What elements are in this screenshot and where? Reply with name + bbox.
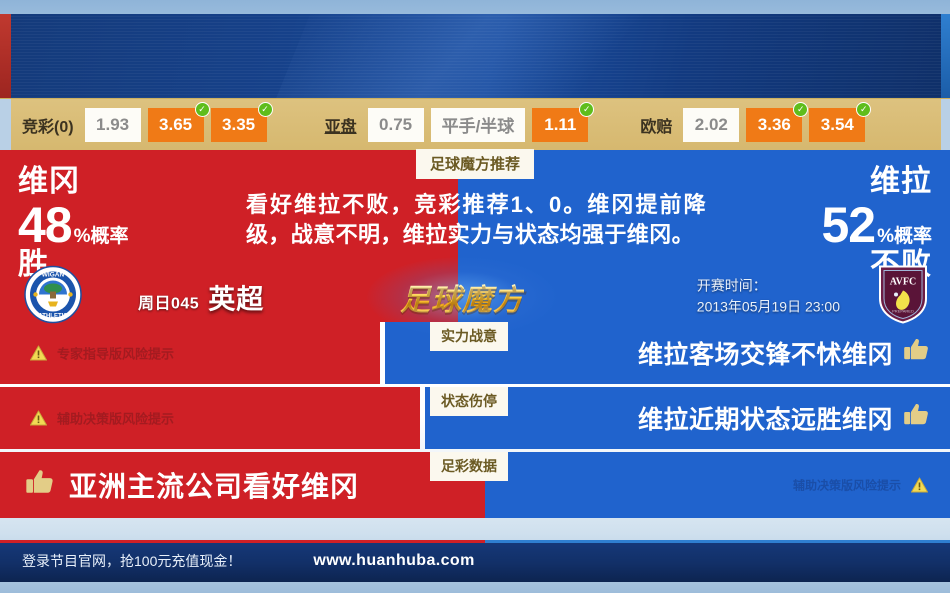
promo-text: 登录节目官网，抢100元充值现金！	[22, 551, 241, 571]
match-preview-graphic: WIGAN ATHLETIC 周日045 英超 足球魔方 开赛时间： 2013年…	[0, 0, 950, 593]
match-header	[0, 14, 950, 98]
away-team-crest: AVFC PREPARED	[878, 264, 928, 329]
check-icon: ✓	[195, 102, 210, 117]
insight-headline-strength: 维拉客场交锋不怵维冈	[638, 335, 930, 371]
odds-cell-away[interactable]: 1.11 ✓	[532, 108, 588, 142]
kickoff-label: 开赛时间：	[697, 275, 840, 297]
warning-icon	[30, 346, 47, 361]
odds-value: 3.36	[758, 115, 791, 135]
away-probability-unit: %概率	[877, 227, 932, 246]
check-icon: ✓	[793, 102, 808, 117]
away-team-name: 维拉	[821, 166, 932, 198]
odds-group-label: 欧赔	[640, 113, 672, 137]
svg-text:AVFC: AVFC	[890, 276, 916, 287]
odds-value: 0.75	[379, 115, 412, 135]
svg-text:PREPARED: PREPARED	[892, 308, 914, 313]
svg-text:WIGAN: WIGAN	[42, 271, 65, 278]
brand-logo: 足球魔方	[400, 275, 524, 319]
odds-value: 3.35	[222, 115, 255, 135]
recommendation-badge: 足球魔方推荐	[416, 149, 534, 179]
risk-note-text: 专家指导版风险提示	[57, 344, 174, 363]
insight-headline-form: 维拉近期状态远胜维冈	[638, 400, 930, 436]
home-probability-unit: %概率	[74, 227, 129, 246]
home-probability-value: 48	[18, 200, 72, 250]
insight-row-form[interactable]: 辅助决策版风险提示 状态伤停 维拉近期状态远胜维冈	[0, 387, 950, 449]
odds-group-asian-handicap: 亚盘 0.75 平手/半球 1.11 ✓	[325, 108, 589, 142]
odds-cell-handicap[interactable]: 平手/半球	[431, 108, 526, 142]
brand-logo-text: 足球魔方	[400, 284, 524, 317]
risk-note-text: 辅助决策版风险提示	[793, 477, 901, 494]
match-title: 周日045 英超	[138, 277, 264, 316]
odds-value: 1.11	[544, 115, 576, 135]
odds-cell-home[interactable]: 1.93	[85, 108, 141, 142]
thumbs-up-icon	[903, 402, 930, 434]
odds-group-label: 竞彩(0)	[22, 113, 74, 137]
thumbs-up-icon	[903, 337, 930, 369]
risk-note-text: 辅助决策版风险提示	[57, 409, 174, 428]
league-name: 英超	[208, 277, 264, 316]
insight-headline-text: 维拉客场交锋不怵维冈	[638, 335, 893, 371]
odds-group-jingcai: 竞彩(0) 1.93 3.65 ✓ 3.35 ✓	[22, 108, 267, 142]
row-badge-betting-data: 足彩数据	[430, 452, 508, 481]
odds-value: 3.65	[159, 115, 192, 135]
check-icon: ✓	[579, 102, 594, 117]
odds-value: 3.54	[821, 115, 854, 135]
site-url[interactable]: www.huanhuba.com	[313, 552, 474, 570]
odds-cell-draw[interactable]: 3.36 ✓	[746, 108, 802, 142]
header-accent-left	[0, 14, 11, 98]
insight-row-strength[interactable]: 专家指导版风险提示 实力战意 维拉客场交锋不怵维冈	[0, 322, 950, 384]
risk-note-assistant: 辅助决策版风险提示	[30, 409, 174, 428]
risk-note-expert: 专家指导版风险提示	[30, 344, 174, 363]
warning-icon	[911, 478, 928, 493]
home-team-name: 维冈	[18, 166, 129, 198]
odds-group-european: 欧赔 2.02 3.36 ✓ 3.54 ✓	[640, 108, 865, 142]
odds-cell-home[interactable]: 0.75	[368, 108, 424, 142]
odds-bar-edge-left	[0, 99, 11, 151]
home-team-crest: WIGAN ATHLETIC	[24, 265, 82, 328]
svg-text:ATHLETIC: ATHLETIC	[38, 313, 68, 319]
insight-headline-text: 维拉近期状态远胜维冈	[638, 400, 893, 436]
odds-group-label: 亚盘	[325, 113, 357, 137]
footer-bar: 登录节目官网，抢100元充值现金！ www.huanhuba.com	[0, 540, 950, 582]
header-accent-right	[941, 14, 950, 98]
odds-cell-away[interactable]: 3.54 ✓	[809, 108, 865, 142]
insight-headline-betting: 亚洲主流公司看好维冈	[25, 465, 359, 505]
row-badge-form: 状态伤停	[430, 387, 508, 416]
insight-rows: 专家指导版风险提示 实力战意 维拉客场交锋不怵维冈 辅助决策版风险提示 状态伤停	[0, 322, 950, 521]
recommendation-text: 看好维拉不败，竞彩推荐1、0。维冈提前降级，战意不明，维拉实力与状态均强于维冈。	[246, 190, 706, 251]
odds-value: 1.93	[96, 115, 129, 135]
insight-row-betting-data[interactable]: 亚洲主流公司看好维冈 足彩数据 辅助决策版风险提示	[0, 452, 950, 518]
odds-cell-home[interactable]: 2.02	[683, 108, 739, 142]
odds-value: 2.02	[695, 115, 728, 135]
match-number: 周日045	[138, 289, 199, 313]
insight-headline-text: 亚洲主流公司看好维冈	[69, 465, 359, 505]
risk-note-assistant-right: 辅助决策版风险提示	[793, 477, 928, 494]
check-icon: ✓	[856, 102, 871, 117]
header-sheen	[254, 14, 687, 98]
odds-cell-away[interactable]: 3.35 ✓	[211, 108, 267, 142]
thumbs-up-icon	[25, 468, 55, 503]
kickoff-time: 开赛时间： 2013年05月19日 23:00	[697, 275, 840, 318]
odds-cell-draw[interactable]: 3.65 ✓	[148, 108, 204, 142]
kickoff-value: 2013年05月19日 23:00	[697, 297, 840, 319]
odds-value: 平手/半球	[442, 112, 515, 137]
row-badge-strength: 实力战意	[430, 322, 508, 351]
odds-bar: 竞彩(0) 1.93 3.65 ✓ 3.35 ✓ 亚盘 0.75 平手/半球 1…	[0, 98, 950, 150]
check-icon: ✓	[258, 102, 273, 117]
odds-bar-edge-right	[941, 99, 950, 151]
away-probability-value: 52	[821, 200, 875, 250]
warning-icon	[30, 411, 47, 426]
